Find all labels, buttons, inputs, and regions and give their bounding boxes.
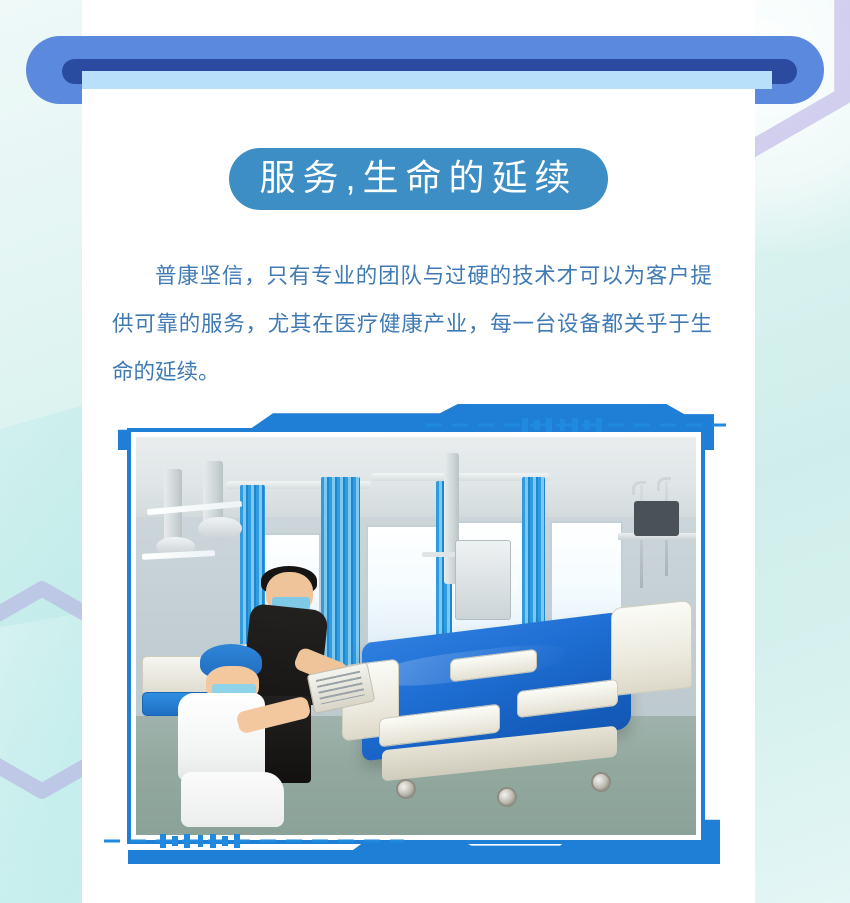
- bed-wheel: [396, 779, 416, 799]
- bed-wheel: [591, 772, 611, 792]
- photo-block: [110, 404, 720, 864]
- hospital-ward-photo: [136, 437, 696, 835]
- page-root: 服务,生命的延续 普康坚信，只有专业的团队与过硬的技术才可以为客户提供可靠的服务…: [0, 0, 850, 903]
- nurse-figure: [175, 644, 315, 827]
- iv-hook-icon: [657, 477, 671, 491]
- bed-wheel: [497, 787, 517, 807]
- ward-scene: [136, 437, 696, 835]
- hospital-bed: [349, 612, 685, 803]
- wall-equipment: [634, 501, 679, 537]
- header-bar-notch: [82, 89, 755, 105]
- photo-frame: [127, 428, 705, 844]
- page-title-pill: 服务,生命的延续: [229, 148, 607, 210]
- bed-headboard: [611, 600, 692, 696]
- medical-console: [455, 540, 511, 620]
- nurse-legs: [181, 772, 285, 827]
- iv-hook-icon: [632, 481, 646, 495]
- nurse-torso: [178, 693, 265, 781]
- page-title: 服务,生命的延续: [259, 160, 577, 196]
- header-bar: [0, 0, 850, 112]
- page-title-wrapper: 服务,生命的延续: [82, 148, 755, 210]
- header-bar-light-layer: [82, 71, 772, 89]
- body-paragraph: 普康坚信，只有专业的团队与过硬的技术才可以为客户提供可靠的服务，尤其在医疗健康产…: [112, 252, 712, 396]
